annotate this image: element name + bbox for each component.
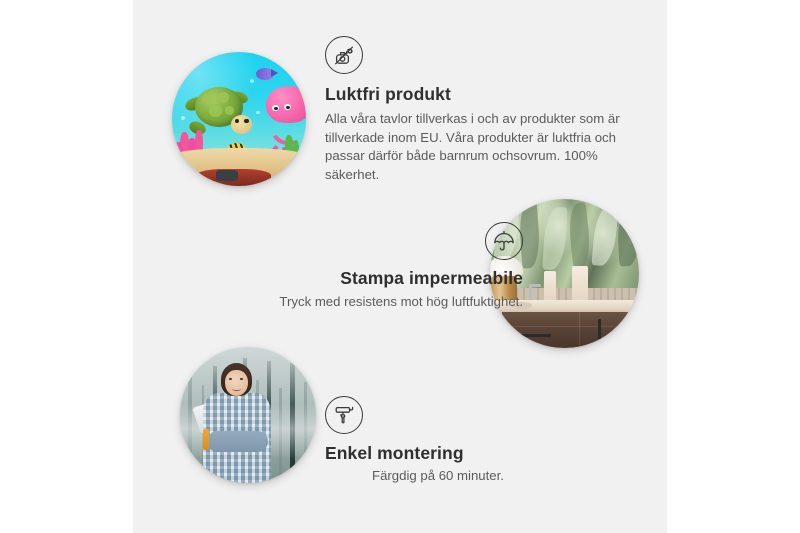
feature-body: Färgdig på 60 minuter. (325, 467, 585, 485)
screenshot-root: Luktfri produkt Alla våra tavlor tillver… (0, 0, 800, 533)
feature-waterproof-print: Stampa impermeabile Tryck med resistens … (193, 222, 523, 311)
roller-handle-prop (203, 429, 208, 451)
cabinet-handle (598, 319, 601, 339)
infographic-canvas: Luktfri produkt Alla våra tavlor tillver… (133, 0, 667, 533)
feature-title: Enkel montering (325, 443, 585, 464)
photo-underwater-kids-mural[interactable] (172, 52, 306, 186)
cabinet-handle (521, 334, 551, 337)
crossed-arms (207, 431, 268, 451)
leaf-icon (592, 204, 620, 267)
feature-title: Stampa impermeabile (193, 268, 523, 289)
photo-underwater-content (172, 52, 306, 186)
feature-easy-mounting: Enkel montering Färgdig på 60 minuter. (325, 396, 585, 485)
photo-forest-content (180, 347, 316, 483)
umbrella-icon (485, 222, 523, 260)
feature-body: Alla våra tavlor tillverkas i och av pro… (325, 110, 625, 185)
face (225, 370, 248, 396)
towel-roll (572, 266, 588, 305)
leaf-icon (542, 206, 568, 270)
feature-body: Tryck med resistens mot hög luftfuktighe… (193, 293, 523, 311)
no-perfume-icon (325, 36, 363, 74)
bubble-icon (250, 79, 254, 83)
cabinet-seam (502, 326, 639, 327)
paint-roller-icon (325, 396, 363, 434)
octopus-eye-icon (284, 104, 291, 110)
turtle-shell-spot (225, 106, 235, 115)
fish-tail-icon (271, 69, 278, 77)
faucet-icon (529, 285, 532, 301)
vanity-cabinet (502, 312, 639, 348)
seabed-object (196, 169, 271, 186)
cabinet-seam (579, 312, 580, 348)
leaf-icon (567, 202, 593, 269)
leaf-icon (617, 208, 639, 266)
feature-icon-row (193, 222, 523, 260)
faucet-spout-icon (529, 284, 541, 287)
turtle-shell-spot (202, 94, 214, 104)
bubble-icon (256, 111, 259, 114)
turtle-shell-spot (218, 92, 230, 102)
feature-title: Luktfri produkt (325, 84, 625, 105)
towel-roll (544, 271, 556, 304)
smile-icon (232, 386, 242, 390)
turtle-head-icon (231, 115, 252, 134)
feature-odour-free: Luktfri produkt Alla våra tavlor tillver… (325, 36, 625, 185)
photo-woman-paint-roller-forest[interactable] (180, 347, 316, 483)
turtle-eye-icon (244, 119, 248, 123)
turtle-shell-spot (209, 105, 222, 116)
octopus-eye-icon (272, 105, 279, 111)
